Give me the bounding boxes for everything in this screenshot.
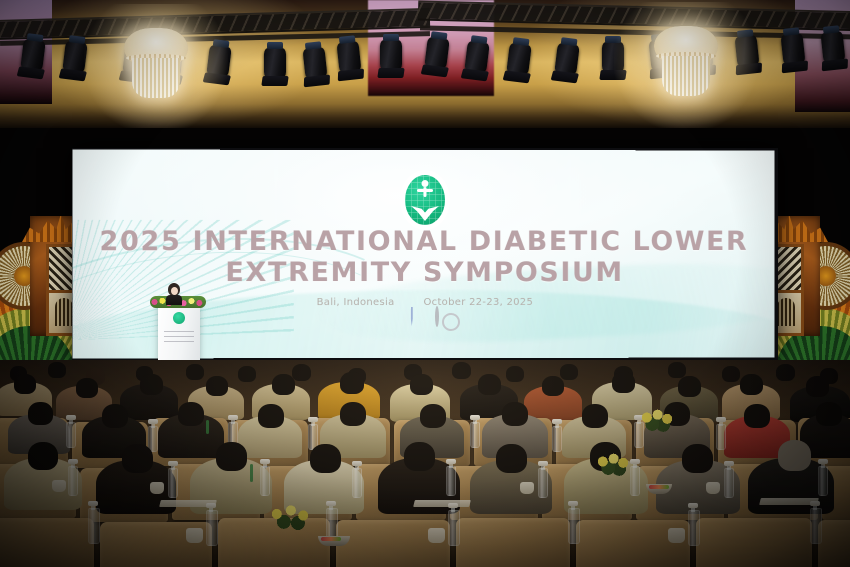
slide-dates: October 22-23, 2025	[423, 297, 533, 308]
spotlight-fixture	[424, 37, 449, 69]
spotlight-fixture	[506, 43, 531, 75]
spotlight-fixture	[336, 41, 361, 73]
spotlight-fixture	[20, 39, 45, 71]
emblem-figure-head	[422, 180, 429, 187]
podium-emblem-icon	[173, 312, 185, 324]
podium-text-block	[164, 328, 194, 342]
slide-title-line1: 2025 INTERNATIONAL DIABETIC LOWER	[73, 226, 775, 257]
spotlight-fixture	[820, 31, 845, 63]
chandelier-right	[640, 20, 732, 112]
conference-hall-photo: 2025 INTERNATIONAL DIABETIC LOWER EXTREM…	[0, 0, 850, 567]
audience-shadow-overlay	[0, 360, 850, 567]
gray-circular-seal-icon	[435, 308, 439, 326]
spotlight-fixture	[302, 47, 327, 79]
spotlight-fixture	[464, 41, 489, 73]
emblem-figure-body	[424, 187, 427, 197]
speaker-podium	[158, 303, 200, 365]
spotlight-fixture	[264, 48, 286, 78]
spotlight-fixture	[380, 40, 402, 70]
presenter-at-podium	[165, 283, 183, 303]
presenter-face	[171, 287, 178, 295]
audience-seating-area	[0, 360, 850, 567]
blue-shield-crest-icon	[411, 308, 413, 326]
green-circular-emblem	[402, 172, 448, 228]
ceiling-zone	[0, 0, 850, 128]
presenter-torso	[166, 295, 182, 305]
spotlight-fixture	[780, 33, 805, 65]
chandelier-left	[110, 22, 202, 114]
spotlight-fixture	[554, 43, 579, 75]
slide-location: Bali, Indonesia	[317, 297, 395, 308]
